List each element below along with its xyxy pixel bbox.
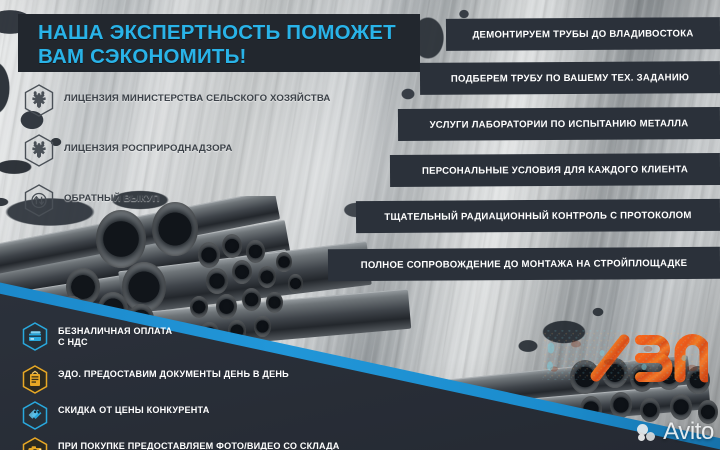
benefit-label: СКИДКА ОТ ЦЕНЫ КОНКУРЕНТА	[58, 405, 210, 416]
credential-label: ОБРАТНЫЙ ВЫКУП	[64, 193, 159, 204]
feature-bar: ПОДБЕРЕМ ТРУБУ ПО ВАШЕМУ ТЕХ. ЗАДАНИЮ	[420, 61, 720, 95]
buyback-arrows-icon	[24, 184, 54, 217]
credentials-list: ЛИЦЕНЗИЯ МИНИСТЕРСТВА СЕЛЬСКОГО ХОЗЯЙСТВ…	[24, 84, 364, 234]
double-headed-eagle-icon	[24, 134, 54, 167]
benefits-list: БЕЗНАЛИЧНАЯ ОПЛАТА С НДС ЭДО. ПРЕДОСТАВИ…	[22, 322, 382, 450]
feature-label: ДЕМОНТИРУЕМ ТРУБЫ ДО ВЛАДИВОСТОКА	[458, 28, 707, 41]
feature-bar: ТЩАТЕЛЬНЫЙ РАДИАЦИОННЫЙ КОНТРОЛЬ С ПРОТО…	[356, 199, 720, 233]
credential-item: ОБРАТНЫЙ ВЫКУП	[24, 184, 364, 220]
benefit-label: ПРИ ПОКУПКЕ ПРЕДОСТАВЛЯЕМ ФОТО/ВИДЕО СО …	[58, 441, 340, 450]
discount-tag-icon	[22, 401, 48, 430]
niva-logo	[540, 322, 708, 386]
benefit-item: ЭДО. ПРЕДОСТАВИМ ДОКУМЕНТЫ ДЕНЬ В ДЕНЬ	[22, 365, 382, 392]
feature-label: ПОДБЕРЕМ ТРУБУ ПО ВАШЕМУ ТЕХ. ЗАДАНИЮ	[437, 72, 703, 85]
credential-label: ЛИЦЕНЗИЯ МИНИСТЕРСТВА СЕЛЬСКОГО ХОЗЯЙСТВ…	[64, 93, 331, 104]
headline-text: НАША ЭКСПЕРТНОСТЬ ПОМОЖЕТ ВАМ СЭКОНОМИТЬ…	[38, 21, 396, 69]
benefit-label: БЕЗНАЛИЧНАЯ ОПЛАТА С НДС	[58, 326, 172, 348]
feature-label: ПОЛНОЕ СОПРОВОЖДЕНИЕ ДО МОНТАЖА НА СТРОЙ…	[347, 257, 702, 270]
feature-label: УСЛУГИ ЛАБОРАТОРИИ ПО ИСПЫТАНИЮ МЕТАЛЛА	[416, 118, 703, 131]
credential-item: ЛИЦЕНЗИЯ РОСПРИРОДНАДЗОРА	[24, 134, 364, 170]
avito-watermark: Avito	[637, 420, 714, 444]
headline-banner: НАША ЭКСПЕРТНОСТЬ ПОМОЖЕТ ВАМ СЭКОНОМИТЬ…	[18, 14, 420, 72]
avito-watermark-text: Avito	[663, 420, 714, 444]
avito-logo-icon	[637, 421, 659, 443]
feature-bar: ДЕМОНТИРУЕМ ТРУБЫ ДО ВЛАДИВОСТОКА	[446, 17, 720, 51]
feature-label: ПЕРСОНАЛЬНЫЕ УСЛОВИЯ ДЛЯ КАЖДОГО КЛИЕНТА	[408, 164, 702, 177]
benefit-label: ЭДО. ПРЕДОСТАВИМ ДОКУМЕНТЫ ДЕНЬ В ДЕНЬ	[58, 369, 289, 380]
feature-bar: ПОЛНОЕ СОПРОВОЖДЕНИЕ ДО МОНТАЖА НА СТРОЙ…	[328, 247, 720, 281]
feature-label: ТЩАТЕЛЬНЫЙ РАДИАЦИОННЫЙ КОНТРОЛЬ С ПРОТО…	[370, 209, 705, 222]
credential-item: ЛИЦЕНЗИЯ МИНИСТЕРСТВА СЕЛЬСКОГО ХОЗЯЙСТВ…	[24, 84, 364, 120]
benefit-item: ПРИ ПОКУПКЕ ПРЕДОСТАВЛЯЕМ ФОТО/ВИДЕО СО …	[22, 437, 382, 450]
benefit-item: БЕЗНАЛИЧНАЯ ОПЛАТА С НДС	[22, 322, 382, 356]
feature-bar: УСЛУГИ ЛАБОРАТОРИИ ПО ИСПЫТАНИЮ МЕТАЛЛА	[398, 107, 720, 141]
camera-icon	[22, 437, 48, 450]
payment-card-icon	[22, 322, 48, 351]
double-headed-eagle-icon	[24, 84, 54, 117]
advertising-banner: НАША ЭКСПЕРТНОСТЬ ПОМОЖЕТ ВАМ СЭКОНОМИТЬ…	[0, 0, 720, 450]
benefit-item: СКИДКА ОТ ЦЕНЫ КОНКУРЕНТА	[22, 401, 382, 428]
credential-label: ЛИЦЕНЗИЯ РОСПРИРОДНАДЗОРА	[64, 143, 232, 154]
document-icon	[22, 365, 48, 394]
feature-bar: ПЕРСОНАЛЬНЫЕ УСЛОВИЯ ДЛЯ КАЖДОГО КЛИЕНТА	[390, 153, 720, 187]
